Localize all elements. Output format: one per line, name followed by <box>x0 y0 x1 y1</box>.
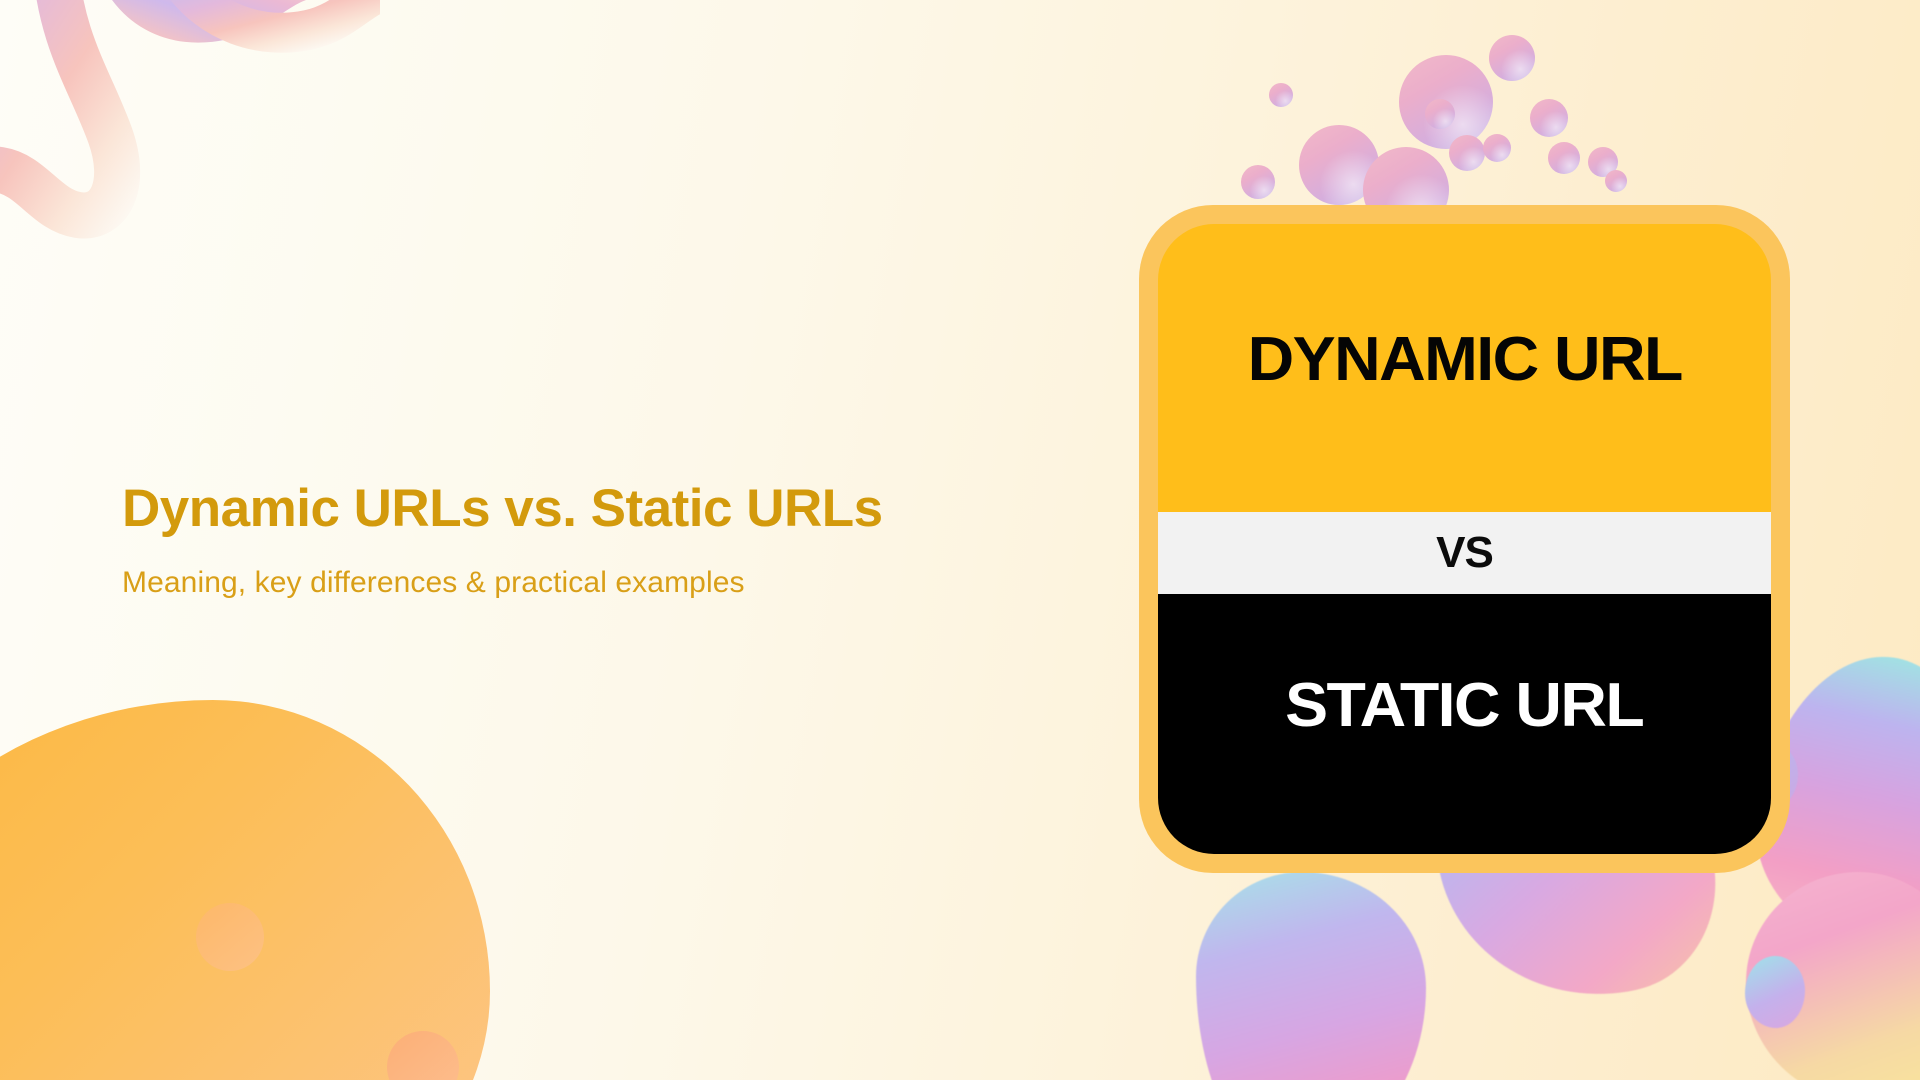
static-url-section: STATIC URL <box>1158 594 1771 854</box>
gradient-blob-tiny-teal <box>1745 956 1805 1028</box>
comparison-card-inner: DYNAMIC URL VS STATIC URL <box>1158 224 1771 854</box>
bubble-5 <box>1449 135 1485 171</box>
bubble-1 <box>1489 35 1535 81</box>
orange-circle-small <box>196 903 264 971</box>
dynamic-url-label: DYNAMIC URL <box>1247 324 1681 395</box>
dynamic-url-section: DYNAMIC URL <box>1158 224 1771 512</box>
bubble-6 <box>1483 134 1511 162</box>
slide-canvas: Dynamic URLs vs. Static URLs Meaning, ke… <box>0 0 1920 1080</box>
bubble-7 <box>1530 99 1568 137</box>
page-title: Dynamic URLs vs. Static URLs <box>122 480 1002 537</box>
orange-circle-medium <box>387 1031 459 1080</box>
versus-section: VS <box>1158 512 1771 594</box>
gradient-blob-corner <box>1746 872 1920 1080</box>
orange-corner-blob <box>0 700 490 1080</box>
page-subtitle: Meaning, key differences & practical exa… <box>122 565 1002 601</box>
orange-circle-right <box>1754 972 1814 1032</box>
static-url-label: STATIC URL <box>1285 670 1643 741</box>
bubble-8 <box>1548 142 1580 174</box>
bubble-10 <box>1241 165 1275 199</box>
pastel-ribbon-decoration <box>0 0 380 300</box>
versus-label: VS <box>1436 528 1493 578</box>
bubble-9 <box>1269 83 1293 107</box>
headline-block: Dynamic URLs vs. Static URLs Meaning, ke… <box>122 480 1002 601</box>
bubble-4 <box>1425 99 1455 129</box>
comparison-card: DYNAMIC URL VS STATIC URL <box>1139 205 1790 873</box>
bubble-12 <box>1605 170 1627 192</box>
gradient-blob-lower-center <box>1196 872 1426 1080</box>
